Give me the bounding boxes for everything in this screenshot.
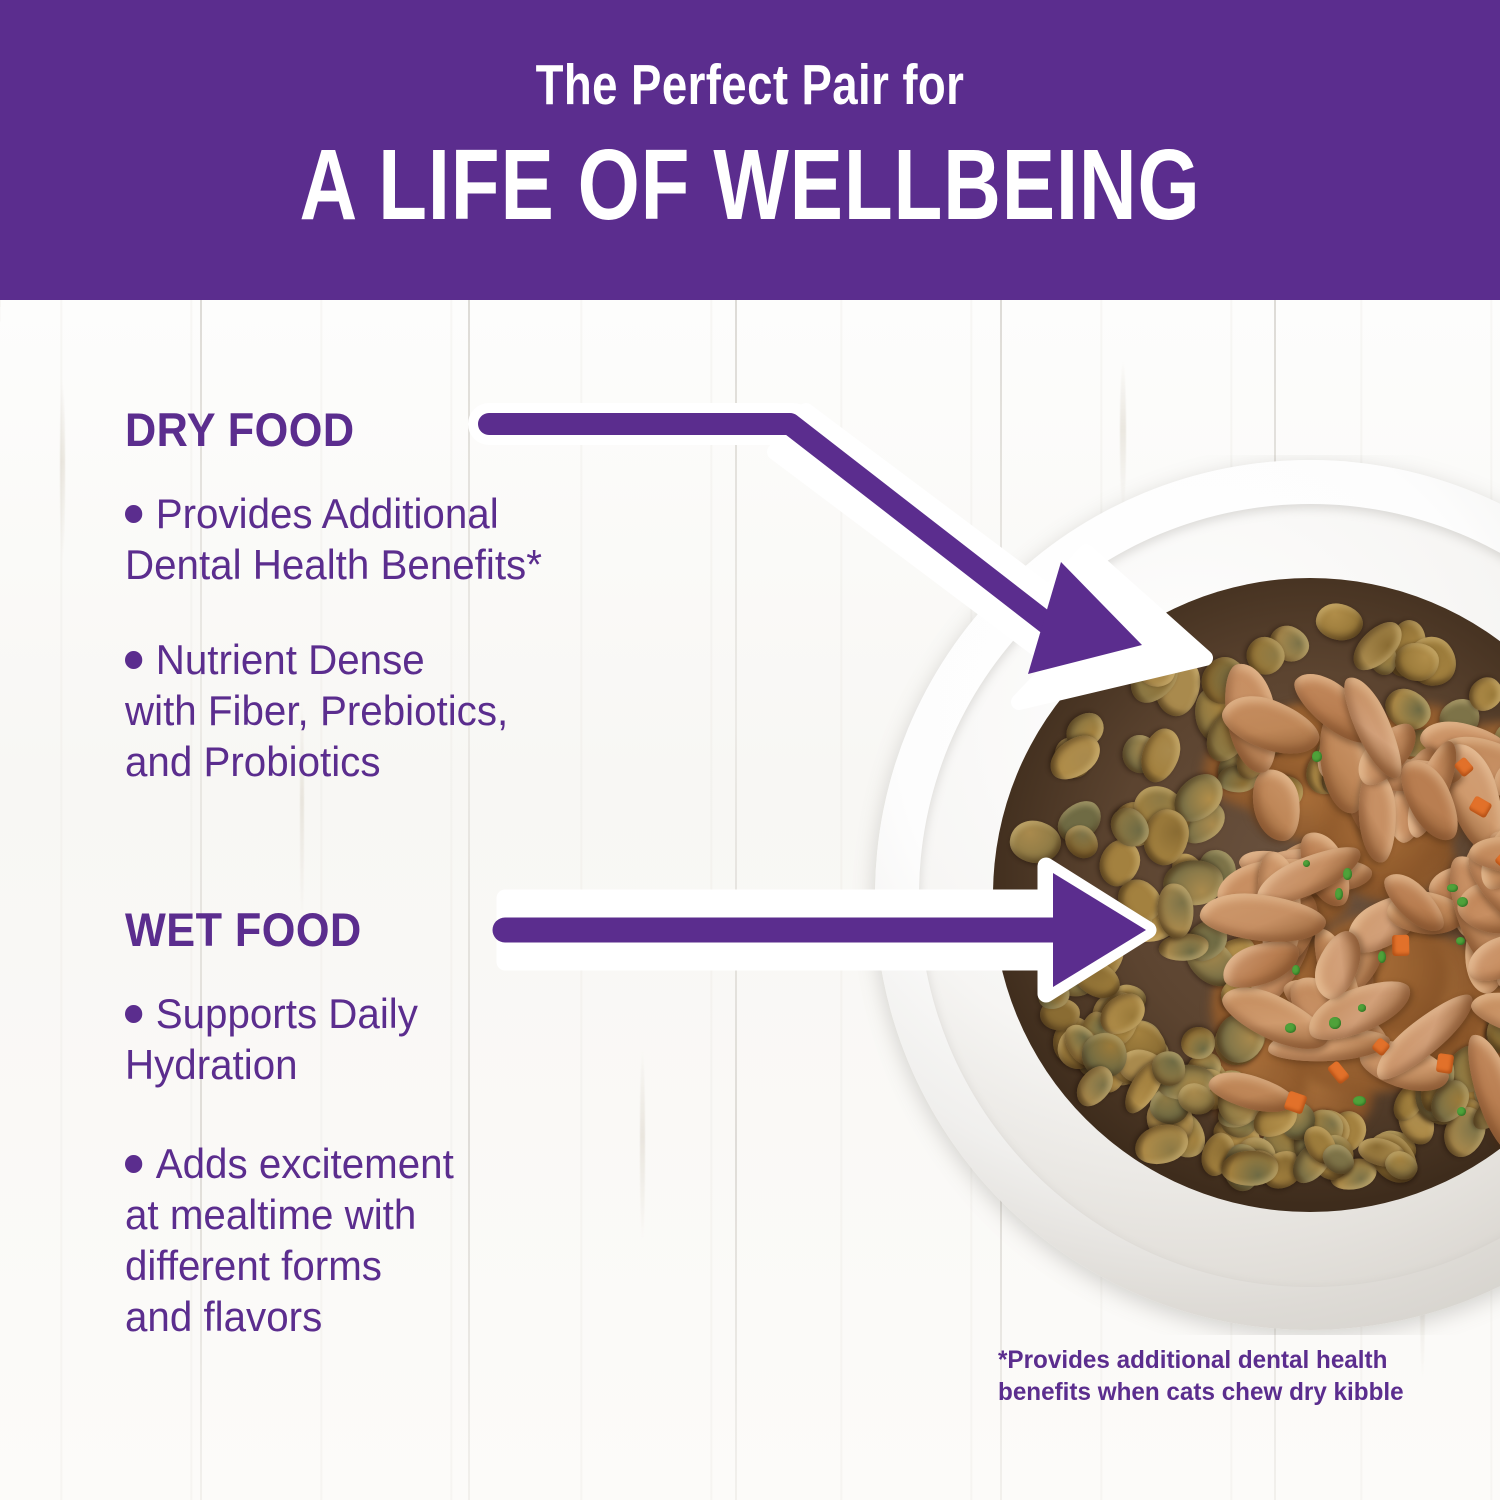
- bowl-food-contents: [993, 578, 1500, 1212]
- pea-piece: [1285, 1023, 1296, 1033]
- pea-piece: [1353, 1096, 1365, 1106]
- plank-seam: [735, 300, 737, 1500]
- pea-piece: [1312, 751, 1322, 762]
- plank-seam: [468, 300, 470, 1500]
- bullet-text: Provides Additional: [156, 490, 499, 537]
- pea-piece: [1447, 884, 1458, 893]
- pea-piece: [1457, 1107, 1466, 1116]
- marketing-graphic: The Perfect Pair for A LIFE OF WELLBEING…: [0, 0, 1500, 1500]
- bullet-dot-icon: [125, 651, 142, 669]
- wet-food-heading: WET FOOD: [125, 902, 362, 957]
- kibble-piece: [1312, 600, 1365, 645]
- bullet-text: Adds excitement: [156, 1140, 454, 1187]
- wet-food-bullet-1: Supports Daily Hydration: [125, 988, 430, 1090]
- header-eyebrow: The Perfect Pair for: [150, 54, 1350, 116]
- page-title: A LIFE OF WELLBEING: [150, 130, 1350, 240]
- bullet-text: and Probiotics: [125, 738, 381, 785]
- dry-food-bullet-1: Provides Additional Dental Health Benefi…: [125, 488, 559, 590]
- bullet-dot-icon: [125, 505, 142, 523]
- bullet-text: different forms: [125, 1242, 382, 1289]
- bowl-interior: [993, 578, 1500, 1212]
- dry-food-bullet-2: Nutrient Dense with Fiber, Prebiotics, a…: [125, 634, 524, 787]
- bullet-dot-icon: [125, 1005, 142, 1023]
- footnote-line-1: *Provides additional dental health: [998, 1344, 1415, 1376]
- pet-food-bowl-photo: [830, 455, 1500, 1335]
- bullet-text: Dental Health Benefits*: [125, 541, 542, 588]
- carrot-piece: [1392, 935, 1410, 957]
- bullet-text: Hydration: [125, 1041, 298, 1088]
- footnote: *Provides additional dental health benef…: [998, 1344, 1415, 1408]
- pea-piece: [1358, 1004, 1366, 1012]
- bowl-outer: [875, 460, 1500, 1330]
- wood-grain: [60, 380, 65, 560]
- bullet-text: Nutrient Dense: [156, 636, 425, 683]
- wood-grain: [640, 1050, 645, 1240]
- bullet-text: at mealtime with: [125, 1191, 416, 1238]
- pea-piece: [1343, 868, 1352, 880]
- kibble-piece: [1135, 724, 1187, 788]
- pea-piece: [1329, 1017, 1341, 1028]
- pea-piece: [1456, 937, 1465, 945]
- bullet-dot-icon: [125, 1155, 142, 1173]
- pea-piece: [1335, 888, 1343, 900]
- bowl-rim: [919, 504, 1500, 1287]
- wet-food-bullet-2: Adds excitement at mealtime with differe…: [125, 1138, 468, 1342]
- kibble-piece: [1004, 900, 1062, 968]
- pea-piece: [1292, 965, 1300, 975]
- footnote-line-2: benefits when cats chew dry kibble: [998, 1376, 1415, 1408]
- kibble-piece: [1007, 817, 1064, 866]
- dry-food-heading: DRY FOOD: [125, 402, 355, 457]
- carrot-piece: [1436, 1053, 1455, 1074]
- bullet-text: Supports Daily: [156, 990, 418, 1037]
- bullet-text: and flavors: [125, 1293, 322, 1340]
- bullet-text: with Fiber, Prebiotics,: [125, 687, 508, 734]
